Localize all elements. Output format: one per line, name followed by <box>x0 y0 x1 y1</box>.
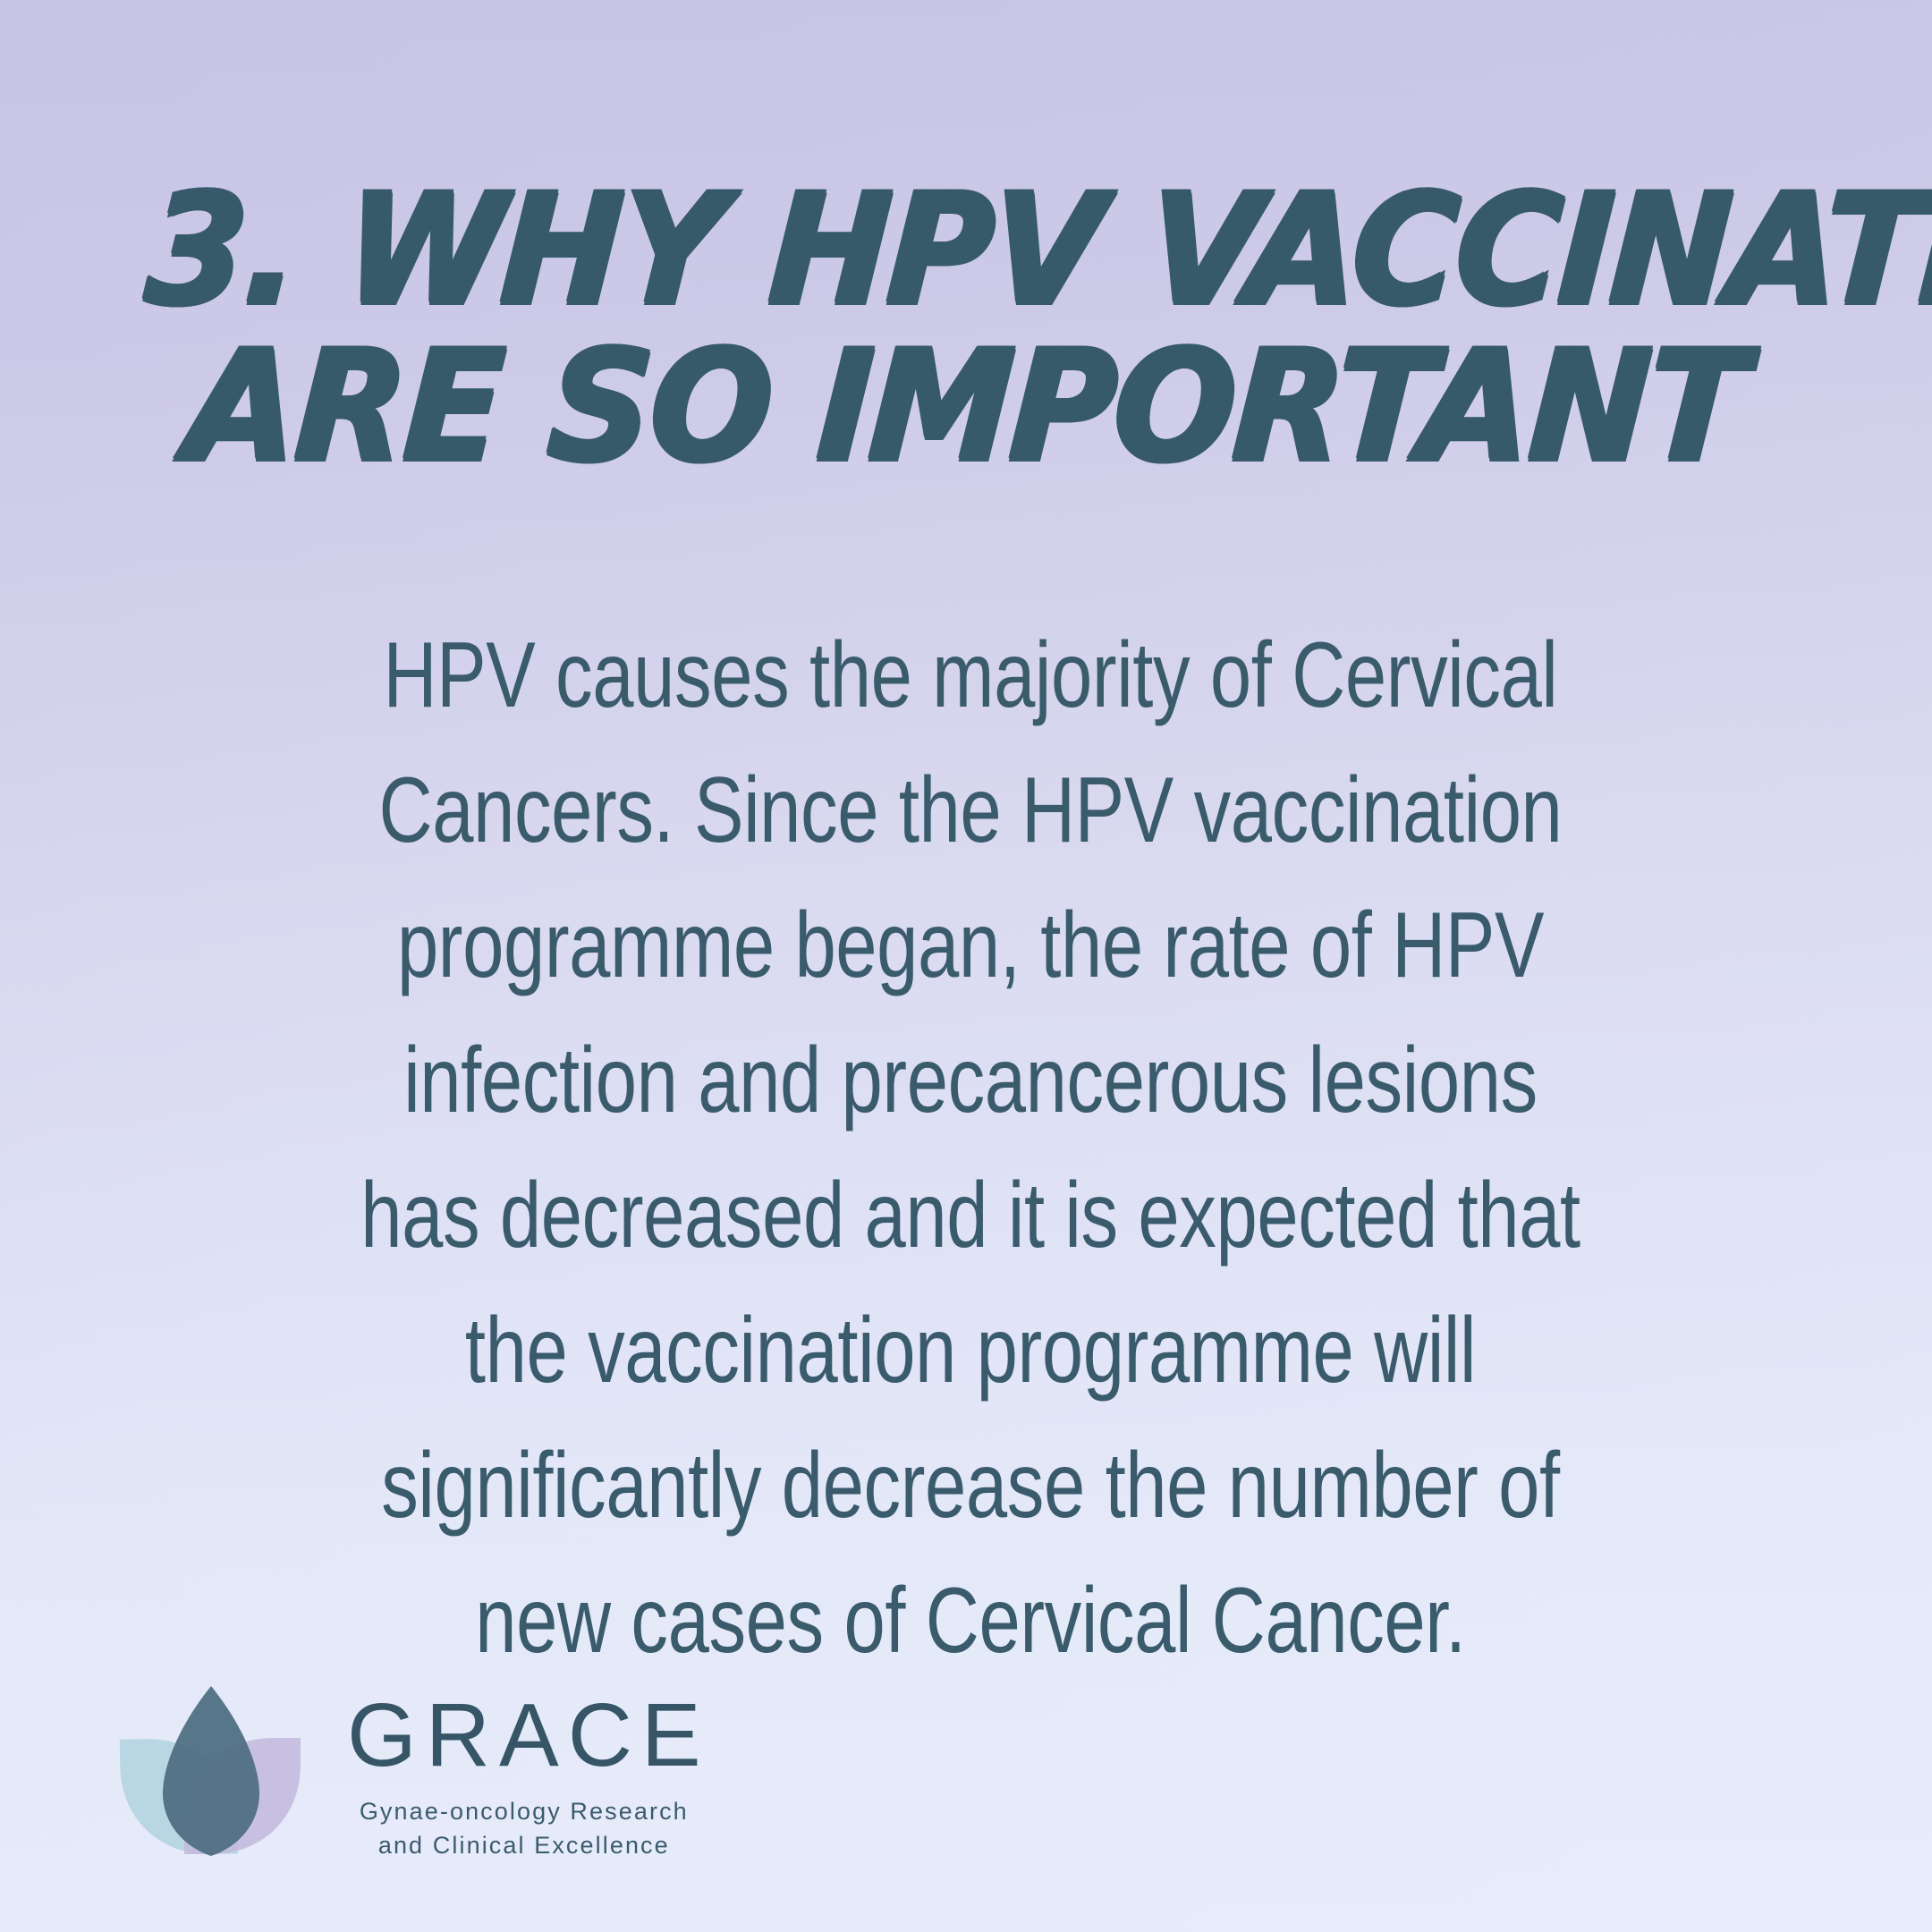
body-line: has decreased and it is expected that <box>330 1148 1611 1284</box>
body-line: programme began, the rate of HPV <box>330 878 1611 1013</box>
title-line-1: 3. WHY HPV VACCINATIONS <box>142 175 1789 326</box>
grace-logo: GRACE Gynae-oncology Research and Clinic… <box>116 1682 710 1863</box>
poster-content: 3. WHY HPV VACCINATIONS ARE SO IMPORTANT… <box>0 0 1932 1932</box>
body-paragraph: HPV causes the majority of Cervical Canc… <box>170 608 1771 1689</box>
body-line: the vaccination programme will <box>330 1284 1611 1419</box>
title-line-2: ARE SO IMPORTANT <box>142 332 1789 483</box>
poster-canvas: 3. WHY HPV VACCINATIONS ARE SO IMPORTANT… <box>0 0 1932 1932</box>
lotus-icon <box>116 1682 306 1861</box>
logo-tagline: Gynae-oncology Research and Clinical Exc… <box>360 1794 689 1863</box>
logo-tagline-line-2: and Clinical Excellence <box>360 1828 689 1862</box>
body-line: significantly decrease the number of <box>330 1419 1611 1554</box>
lotus-icon-svg <box>116 1682 306 1861</box>
logo-tagline-line-1: Gynae-oncology Research <box>360 1794 689 1828</box>
body-line: HPV causes the majority of Cervical <box>330 608 1611 743</box>
lotus-petal-center <box>163 1686 259 1856</box>
body-line: infection and precancerous lesions <box>330 1013 1611 1148</box>
logo-wordmark: GRACE Gynae-oncology Research and Clinic… <box>338 1682 710 1863</box>
body-line: new cases of Cervical Cancer. <box>330 1554 1611 1689</box>
page-title: 3. WHY HPV VACCINATIONS ARE SO IMPORTANT <box>0 175 1932 482</box>
body-line: Cancers. Since the HPV vaccination <box>330 743 1611 878</box>
logo-name: GRACE <box>347 1690 710 1780</box>
